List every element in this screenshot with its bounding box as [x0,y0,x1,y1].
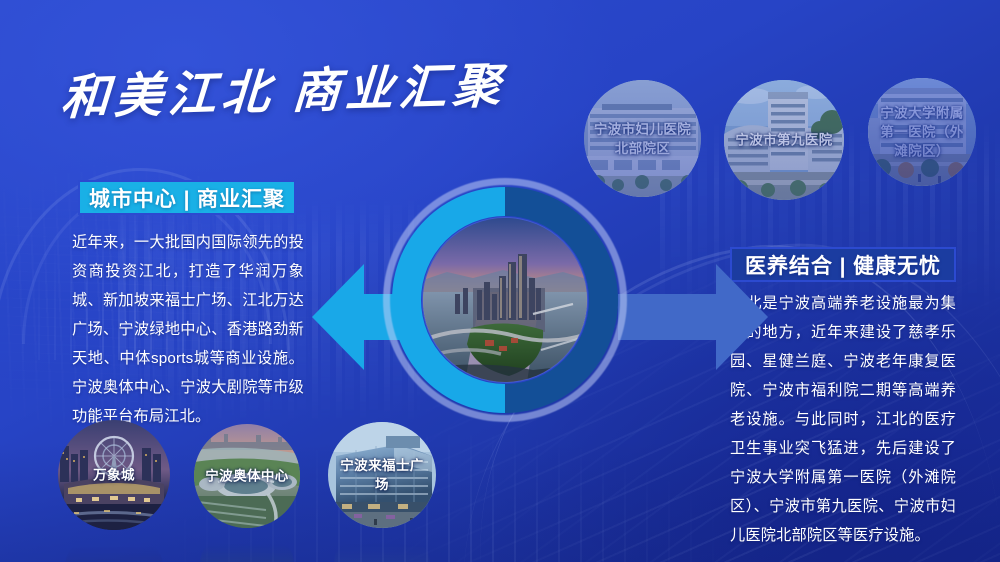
circle-photo [868,78,976,186]
badge-city-center: 城市中心 | 商业汇聚 [78,180,296,215]
circle-photo [724,80,844,200]
circle-caption: 宁波市妇儿医院北部院区 [584,120,701,158]
circle-caption: 宁波市第九医院 [724,131,844,150]
circle-reflection [65,531,164,562]
left-panel-body: 近年来，一大批国内国际领先的投资商投资江北，打造了华润万象城、新加坡来福士广场、… [72,228,304,431]
circle-photo [58,420,170,530]
circle-photo [328,422,436,528]
circle-raffles-city[interactable]: 宁波来福士广场 [328,422,436,528]
page-title: 和美江北 商业汇聚 [59,46,508,128]
circle-photo [584,80,701,197]
emblem-photo [423,218,587,382]
badge-health-label: 医养结合 | 健康无忧 [745,250,941,280]
arrow-right-icon [618,264,768,370]
central-emblem [383,178,627,422]
circle-reflection [334,529,429,562]
circle-mixc[interactable]: 万象城 [58,420,170,530]
circle-reflection [200,529,293,562]
circle-caption: 宁波大学附属第一医院（外滩院区） [868,104,976,161]
badge-city-center-label: 城市中心 | 商业汇聚 [89,183,285,213]
poster-canvas: 和美江北 商业汇聚 城市中心 | 商业汇聚 近年来，一大批国内国际领先的投资商投… [0,0,1000,562]
circle-olympic-center[interactable]: 宁波奥体中心 [194,424,300,528]
circle-ninth-hospital[interactable]: 宁波市第九医院 [724,80,844,200]
circle-maternal-child-hospital[interactable]: 宁波市妇儿医院北部院区 [584,80,701,197]
circle-nbu-first-hospital[interactable]: 宁波大学附属第一医院（外滩院区） [868,78,976,186]
circle-photo [194,424,300,528]
